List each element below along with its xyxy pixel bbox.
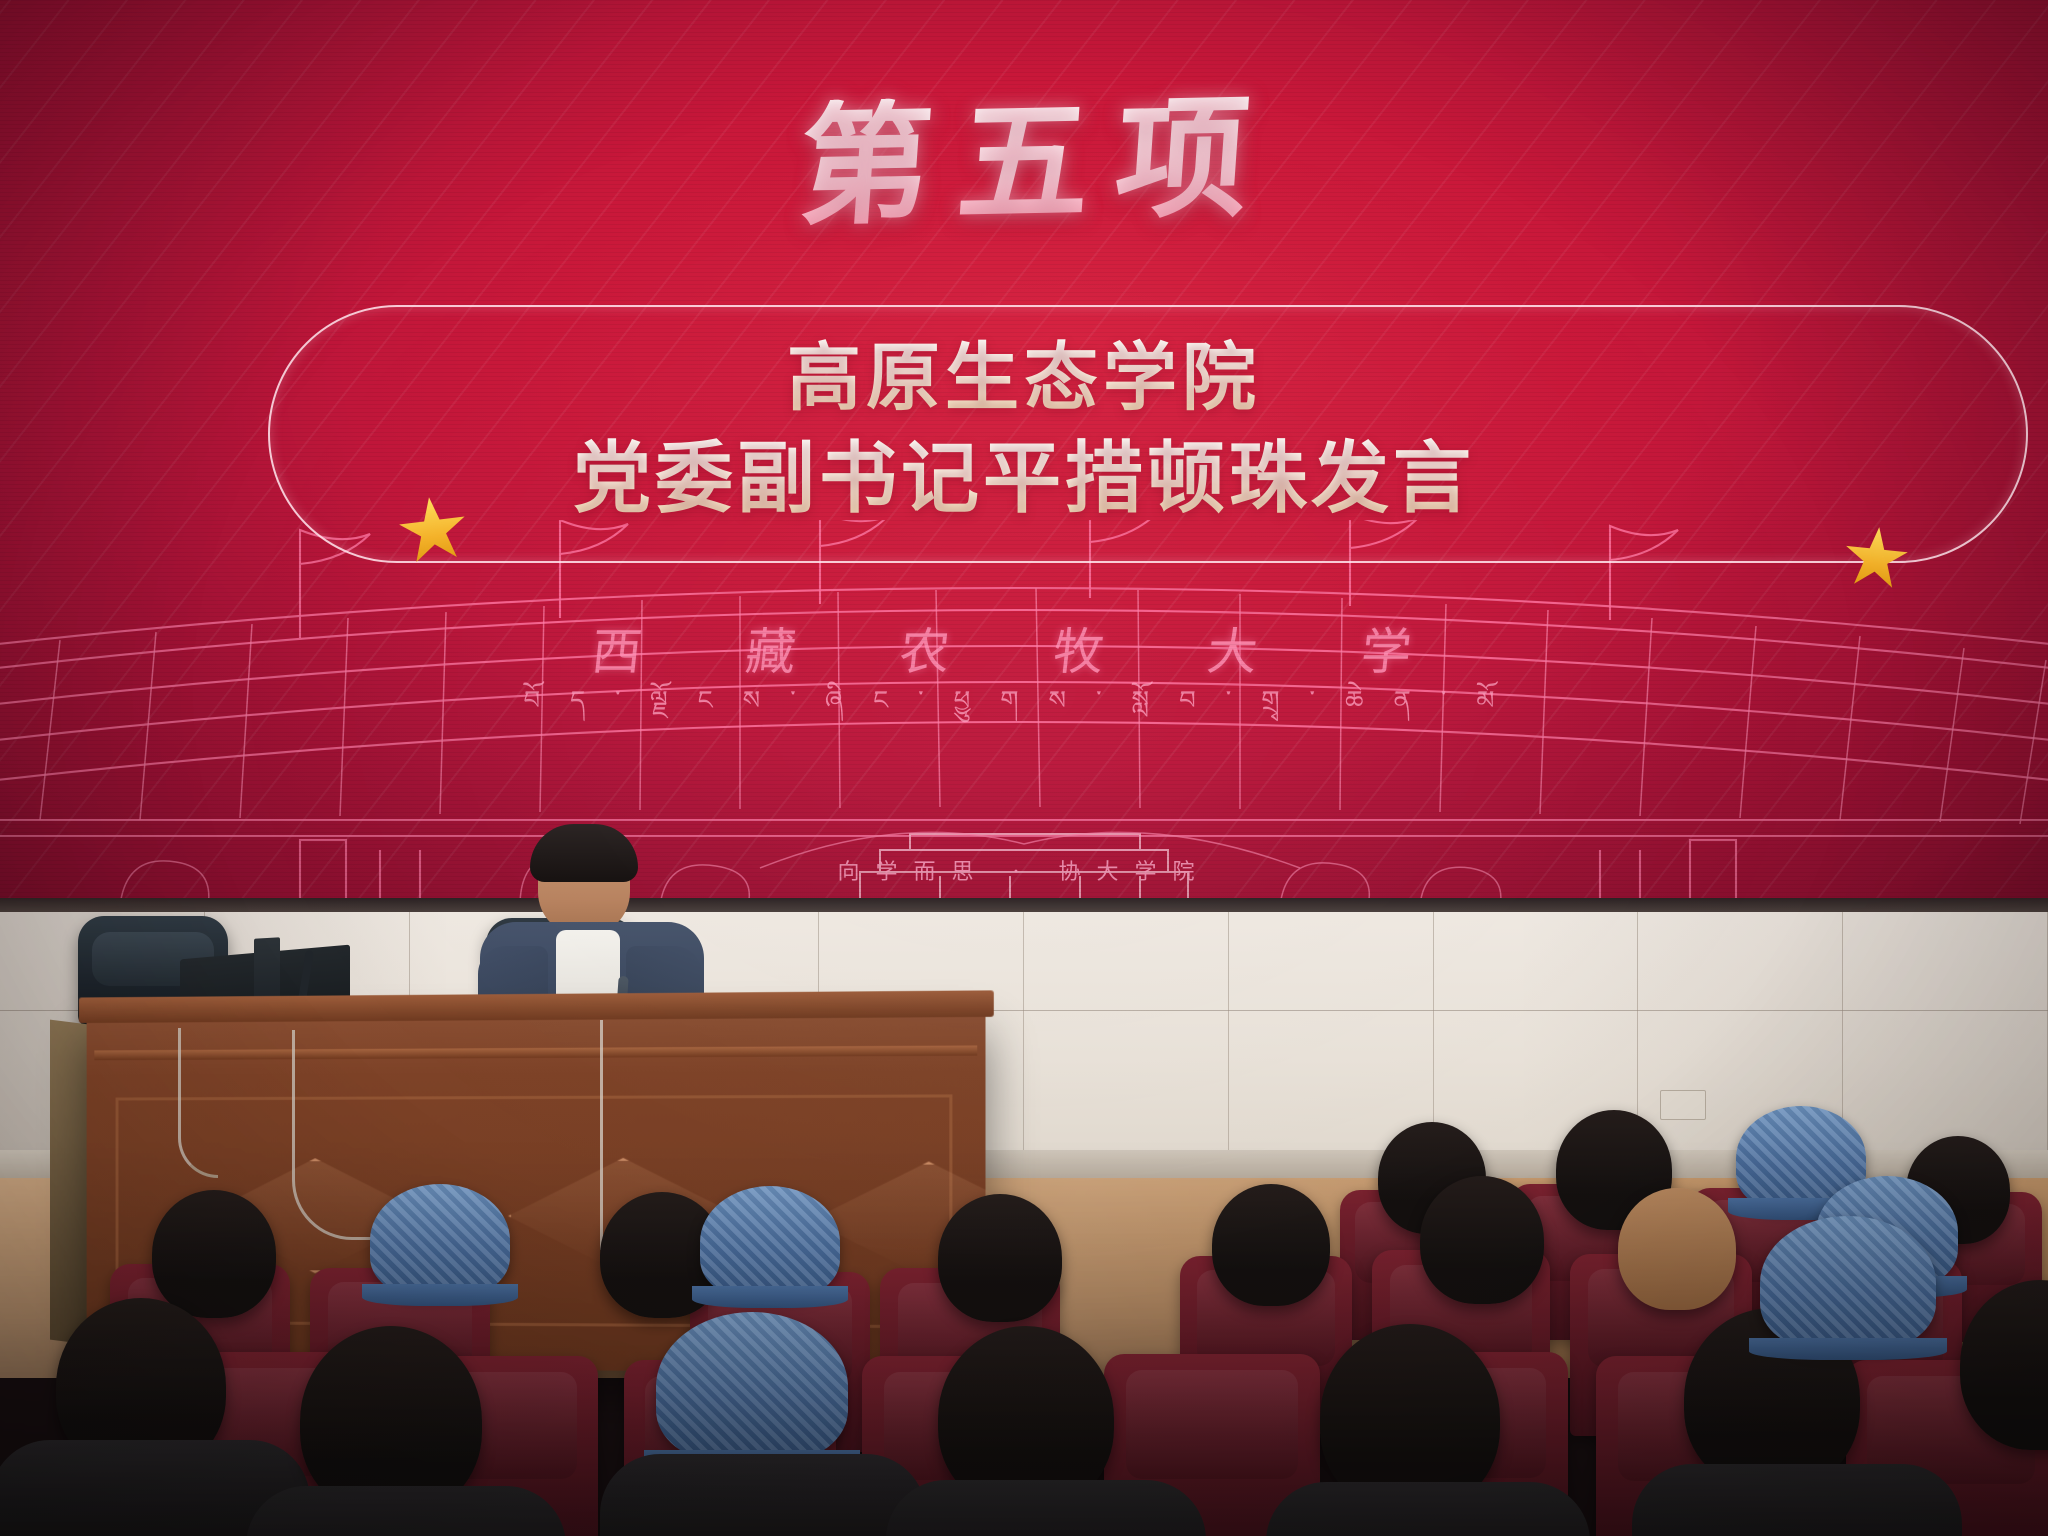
camouflage-cap <box>656 1312 848 1462</box>
audience-seating-area: 01 03 <box>0 1140 2048 1536</box>
audience-head <box>152 1190 276 1318</box>
audience-head <box>1212 1184 1330 1306</box>
camouflage-cap <box>370 1184 510 1296</box>
audience-shoulders <box>246 1486 566 1536</box>
audience-head <box>938 1194 1062 1322</box>
institution-tibetan-text: བོད་ལྗོངས་ཞིང་ཕྱུགས་སློབ་གྲྭ་ཆེན་མོ <box>0 672 2048 745</box>
slide-subtitle-block: 高原生态学院 党委副书记平措顿珠发言 <box>0 330 2048 531</box>
subtitle-line-2: 党委副书记平措顿珠发言 <box>0 428 2048 531</box>
audience-shoulders <box>1266 1482 1590 1536</box>
audience-head <box>1618 1188 1736 1310</box>
audience-shoulders <box>1632 1464 1962 1536</box>
subtitle-line-1: 高原生态学院 <box>0 330 2048 428</box>
wall-power-outlet <box>1660 1090 1706 1120</box>
audience-shoulders <box>600 1454 926 1536</box>
led-display-screen: 西 藏 农 牧 大 学 བོད་ལྗོངས་ཞིང་ཕྱུགས་སློབ་གྲྭ… <box>0 0 2048 905</box>
camouflage-cap <box>1760 1216 1936 1350</box>
conference-hall-photo: 西 藏 农 牧 大 学 བོད་ལྗོངས་ཞིང་ཕྱུགས་སློབ་གྲྭ… <box>0 0 2048 1536</box>
speaker-hair <box>530 824 638 882</box>
slide-headline: 第五项 <box>0 76 2048 250</box>
camouflage-cap <box>700 1186 840 1298</box>
audience-shoulders <box>886 1480 1206 1536</box>
audience-head <box>1420 1176 1544 1304</box>
desk-trim-rail <box>94 1045 977 1060</box>
gate-inscription: 向学而思 · 协大学院 <box>0 854 2048 886</box>
